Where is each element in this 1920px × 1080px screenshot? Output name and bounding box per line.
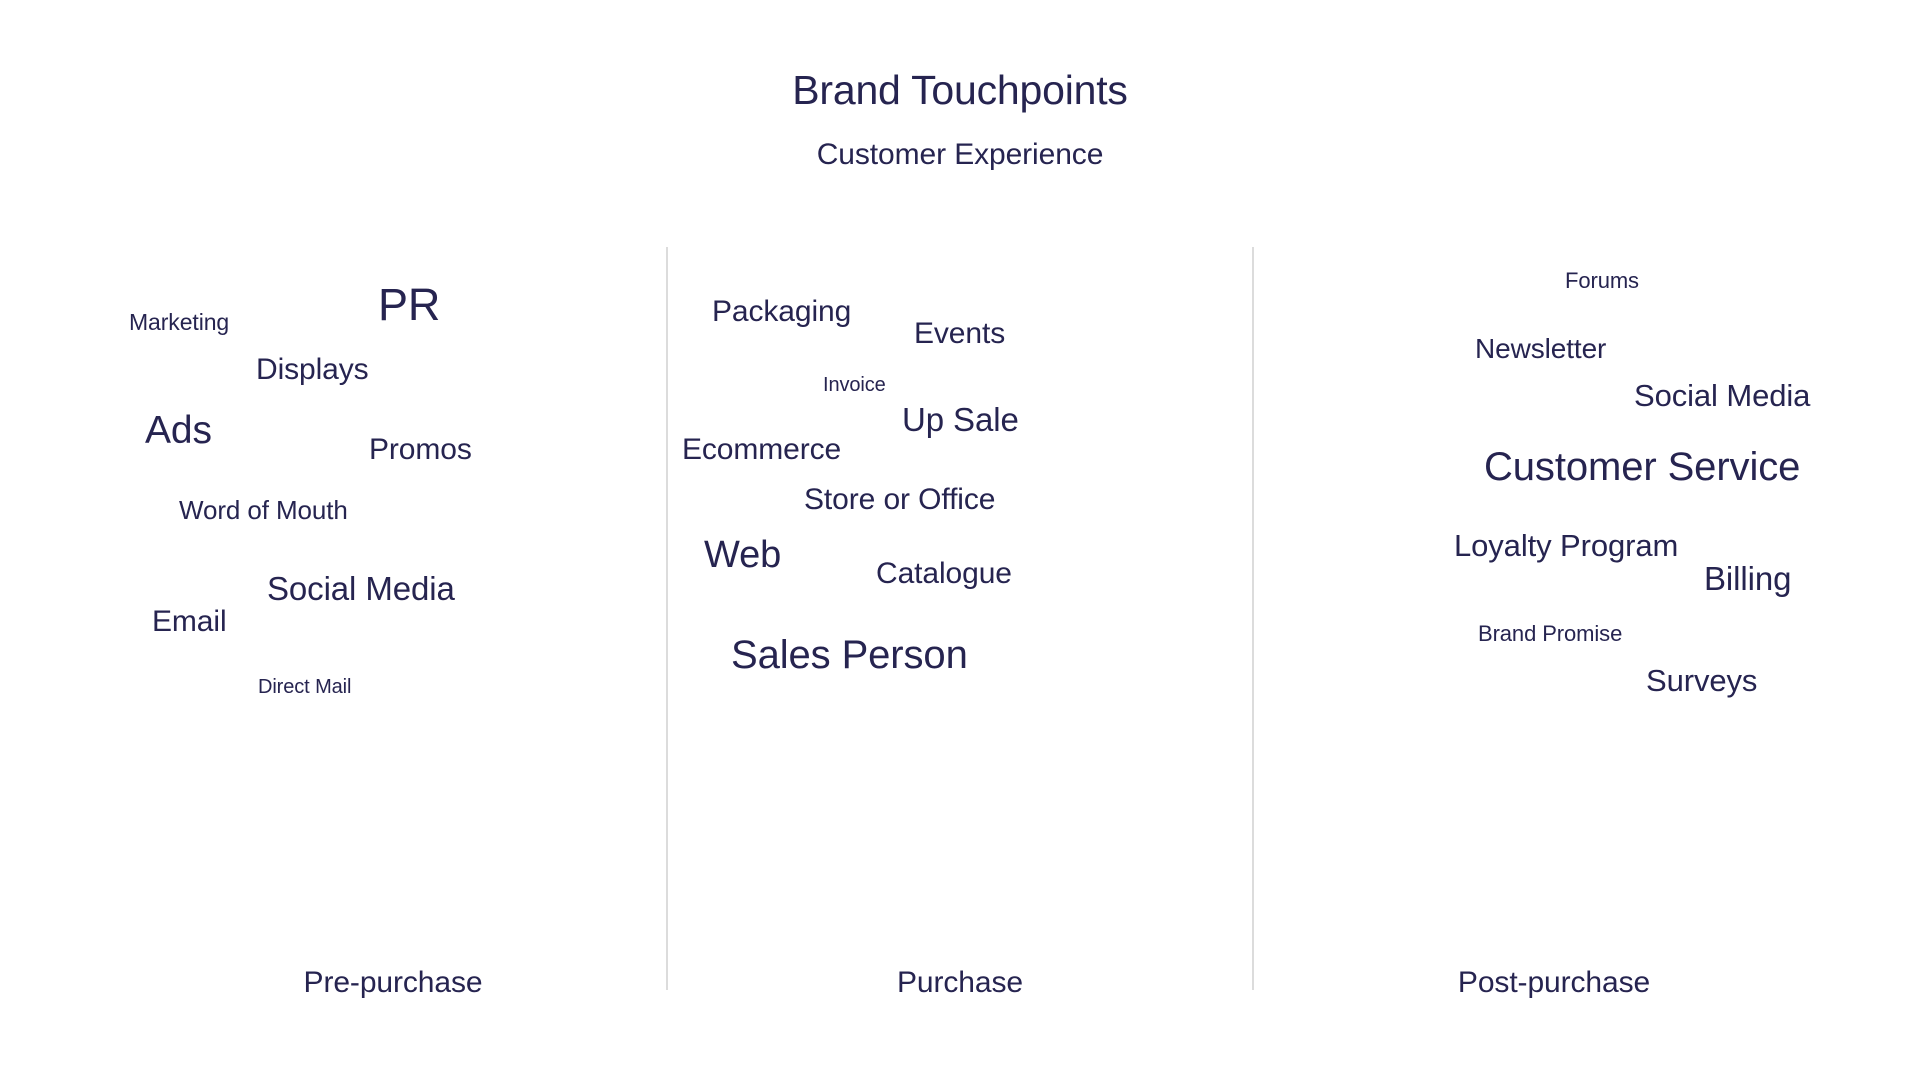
touchpoint-label: Direct Mail [258, 677, 351, 697]
touchpoint-label: Ecommerce [682, 435, 841, 465]
touchpoint-label: Forums [1565, 270, 1639, 292]
touchpoint-label: Invoice [823, 375, 886, 395]
page-title: Brand Touchpoints [0, 68, 1920, 113]
touchpoint-label: Customer Service [1484, 447, 1800, 487]
touchpoint-label: Packaging [712, 297, 851, 327]
touchpoint-label: Web [704, 536, 781, 574]
touchpoint-label: Displays [256, 355, 369, 385]
touchpoint-label: Ads [145, 411, 212, 450]
touchpoint-label: Loyalty Program [1454, 530, 1678, 561]
touchpoint-label: Social Media [1634, 380, 1810, 411]
touchpoint-label: Promos [369, 435, 472, 465]
touchpoint-label: Store or Office [804, 485, 995, 515]
touchpoint-label: Newsletter [1475, 335, 1606, 363]
touchpoint-label: PR [378, 282, 440, 327]
page-subtitle: Customer Experience [0, 138, 1920, 171]
touchpoint-label: Marketing [129, 311, 229, 334]
touchpoint-label: Social Media [267, 572, 455, 605]
touchpoint-label: Events [914, 319, 1005, 349]
touchpoint-label: Brand Promise [1478, 623, 1622, 645]
stage-column-purchase: PackagingEventsInvoiceUp SaleEcommerceSt… [668, 247, 1252, 990]
touchpoint-label: Surveys [1646, 665, 1757, 696]
touchpoint-label: Up Sale [902, 403, 1019, 436]
touchpoint-label: Billing [1704, 562, 1791, 595]
brand-touchpoints-diagram: Brand Touchpoints Customer Experience Ma… [0, 0, 1920, 1080]
touchpoint-label: Sales Person [731, 635, 968, 675]
touchpoint-label: Word of Mouth [179, 497, 348, 523]
touchpoint-label: Email [152, 607, 227, 637]
stage-column-pre-purchase: MarketingPRDisplaysAdsPromosWord of Mout… [120, 247, 666, 990]
stage-label-pre-purchase: Pre-purchase [120, 965, 666, 1001]
stage-label-post-purchase: Post-purchase [1254, 965, 1854, 1001]
stage-column-post-purchase: ForumsNewsletterSocial MediaCustomer Ser… [1254, 247, 1854, 990]
stage-label-purchase: Purchase [668, 965, 1252, 1001]
touchpoint-label: Catalogue [876, 559, 1012, 589]
